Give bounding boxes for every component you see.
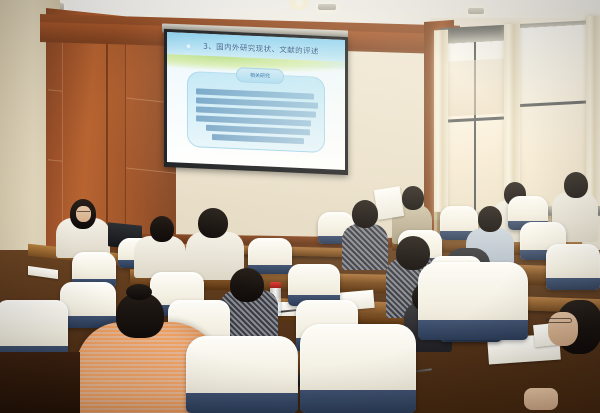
chair-row2-2[interactable]: [248, 238, 292, 274]
audience-head-4a: [230, 268, 264, 302]
audience-head-2b: [198, 208, 228, 238]
presenter-glasses: [77, 211, 90, 214]
chair-foreground-2[interactable]: [186, 336, 298, 413]
audience-head-2d: [478, 206, 502, 232]
audience-head-2a: [150, 216, 174, 242]
curtain-right[interactable]: [586, 16, 600, 206]
classroom-photo: 3、国内外研究现状、文献的评述 相关研究: [0, 0, 600, 413]
chair-row3-4[interactable]: [546, 244, 600, 290]
ceiling-downlight-2: [318, 4, 336, 10]
chair-band: [300, 390, 416, 413]
slide-content-box: 相关研究: [187, 71, 325, 153]
curtain-left[interactable]: [434, 30, 448, 221]
foreground-hand: [524, 388, 558, 410]
audience-head-3a: [396, 236, 430, 270]
foreground-person-right-glasses: [546, 318, 572, 323]
window-outside-building: [448, 59, 504, 117]
held-papers: [374, 186, 404, 220]
chair-band: [418, 320, 528, 340]
presenter-face: [76, 206, 91, 222]
foreground-woman-ponytail: [126, 284, 152, 300]
slide-badge: 相关研究: [236, 67, 284, 84]
audience-head-far-3: [564, 172, 588, 198]
slide-text-line: [212, 134, 304, 144]
left-foreground-shadow: [0, 352, 80, 413]
audience-head-2c: [352, 200, 378, 228]
chair-row3-5[interactable]: [60, 282, 116, 328]
water-bottle-cap: [270, 282, 281, 288]
audience-head-far-1: [402, 186, 424, 210]
chair-band: [546, 278, 600, 290]
projection-screen: 3、国内外研究现状、文献的评述 相关研究: [167, 32, 345, 170]
chair-band: [186, 393, 298, 413]
chair-foreground-4[interactable]: [418, 262, 528, 340]
ceiling-downlight-3: [468, 8, 484, 14]
chair-foreground-3[interactable]: [300, 324, 416, 413]
audience-body-2c: [342, 224, 388, 270]
